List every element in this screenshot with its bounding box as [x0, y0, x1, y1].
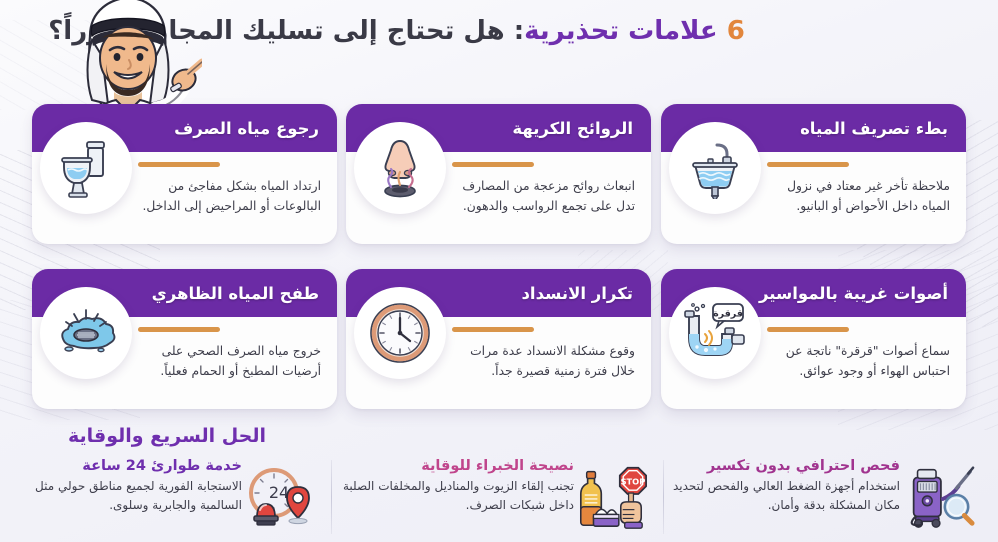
warning-card-visible-overflow[interactable]: طفح المياه الظاهري خروج مياه الصرف الصحي… [32, 269, 337, 409]
bottom-heading: خدمة طوارئ 24 ساعة [8, 458, 242, 474]
card-description: ملاحظة تأخر غير معتاد في نزول المياه داخ… [767, 176, 950, 217]
card-description: سماع أصوات "قرقرة" ناتجة عن احتباس الهوا… [767, 341, 950, 382]
card-title: بطء تصريف المياه [800, 119, 948, 138]
nose-smell-icon [369, 137, 431, 199]
card-icon-bubble [40, 287, 132, 379]
card-description: خروج مياه الصرف الصحي على أرضيات المطبخ … [138, 341, 321, 382]
card-icon-bubble: قرقرة [669, 287, 761, 379]
bottom-section-title: الحل السريع والوقاية [8, 425, 326, 447]
card-icon-bubble [669, 122, 761, 214]
sink-icon [684, 137, 746, 199]
bottom-icon-wrap: 24 [242, 458, 318, 534]
card-icon-bubble [40, 122, 132, 214]
gurgle-bubble-label: قرقرة [713, 309, 743, 320]
header: 6 علامات تحذيرية: هل تحتاج إلى تسليك الم… [0, 0, 998, 96]
card-title: أصوات غريبة بالمواسير [759, 284, 948, 303]
warning-card-strange-pipe-noises[interactable]: أصوات غريبة بالمواسير سماع أصوات "قرقرة"… [661, 269, 966, 409]
bottom-text-wrap: فحص احترافي بدون تكسير استخدام أجهزة الض… [666, 458, 900, 514]
title-number: 6 [727, 16, 745, 46]
bottom-item-professional-inspection[interactable]: فحص احترافي بدون تكسير استخدام أجهزة الض… [666, 458, 984, 538]
card-title: تكرار الانسداد [521, 284, 633, 303]
bottom-text-wrap: نصيحة الخبراء للوقاية تجنب إلقاء الزيوت … [338, 458, 574, 514]
warning-card-bad-odor[interactable]: الروائح الكريهة انبعاث روائح مزعجة من ال… [346, 104, 651, 244]
card-description: انبعاث روائح مزعجة من المصارف تدل على تج… [452, 176, 635, 217]
bottom-icon-wrap: STOP [574, 458, 650, 534]
infographic-canvas: 6 علامات تحذيرية: هل تحتاج إلى تسليك الم… [0, 0, 998, 542]
accent-bar [138, 162, 220, 167]
bottom-description: استخدام أجهزة الضغط العالي والفحص لتحديد… [666, 477, 900, 514]
clock-icon [368, 301, 432, 365]
card-title: رجوع مياه الصرف [174, 119, 319, 138]
card-body: سماع أصوات "قرقرة" ناتجة عن احتباس الهوا… [767, 327, 950, 382]
card-description: وقوع مشكلة الانسداد عدة مرات خلال فترة ز… [452, 341, 635, 382]
bottom-section: الحل السريع والوقاية 24 [0, 422, 998, 542]
bottom-description: الاستجابة الفورية لجميع مناطق حولي مثل ا… [8, 477, 242, 514]
card-body: ارتداد المياه بشكل مفاجئ من البالوعات أو… [138, 162, 321, 217]
stop-sign-label: STOP [621, 476, 646, 486]
card-title: طفح المياه الظاهري [152, 284, 319, 303]
card-title: الروائح الكريهة [512, 119, 633, 138]
bottom-heading: نصيحة الخبراء للوقاية [338, 458, 574, 474]
bottom-heading: فحص احترافي بدون تكسير [666, 458, 900, 474]
toilet-icon [55, 137, 117, 199]
gurgling-pipe-icon: قرقرة [682, 302, 748, 364]
card-body: خروج مياه الصرف الصحي على أرضيات المطبخ … [138, 327, 321, 382]
accent-bar [767, 327, 849, 332]
pressure-washer-magnifier-icon [900, 463, 976, 529]
water-overflow-icon [54, 303, 118, 363]
accent-bar [138, 327, 220, 332]
accent-bar [452, 327, 534, 332]
accent-bar [452, 162, 534, 167]
warning-card-recurring-blockage[interactable]: تكرار الانسداد وقوع مشكلة الانسداد عدة م… [346, 269, 651, 409]
stop-oil-tissue-icon: STOP [574, 463, 650, 529]
title-highlight: علامات تحذيرية [524, 16, 718, 46]
card-body: انبعاث روائح مزعجة من المصارف تدل على تج… [452, 162, 635, 217]
accent-bar [767, 162, 849, 167]
bottom-description: تجنب إلقاء الزيوت والمناديل والمخلفات ال… [338, 477, 574, 514]
card-body: وقوع مشكلة الانسداد عدة مرات خلال فترة ز… [452, 327, 635, 382]
bottom-item-emergency[interactable]: 24 خدمة طوارئ 24 ساعة الاستجابة الفورية … [8, 458, 326, 538]
card-description: ارتداد المياه بشكل مفاجئ من البالوعات أو… [138, 176, 321, 217]
bottom-item-prevention-tip[interactable]: STOP نصيحة الخبراء للوقاية تجنب إلقاء ال… [338, 458, 658, 538]
card-icon-bubble [354, 122, 446, 214]
card-body: ملاحظة تأخر غير معتاد في نزول المياه داخ… [767, 162, 950, 217]
bottom-icon-wrap [900, 458, 976, 534]
card-icon-bubble [354, 287, 446, 379]
clock-24-siren-pin-icon: 24 [243, 465, 317, 527]
bottom-text-wrap: خدمة طوارئ 24 ساعة الاستجابة الفورية لجم… [8, 458, 242, 514]
warning-card-slow-drain[interactable]: بطء تصريف المياه ملاحظة تأخر غير معتاد ف… [661, 104, 966, 244]
warning-card-sewage-backflow[interactable]: رجوع مياه الصرف ارتداد المياه بشكل مفاجئ… [32, 104, 337, 244]
clock-24-label: 24 [269, 483, 289, 502]
